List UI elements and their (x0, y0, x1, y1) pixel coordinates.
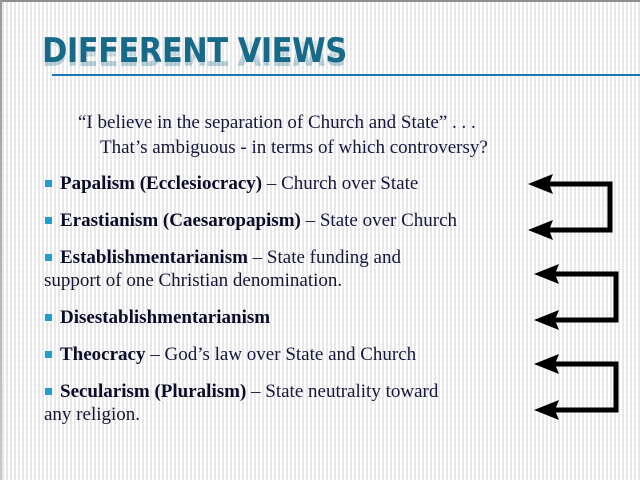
list-item-term: Establishmentarianism (60, 247, 248, 268)
list-item-term: Disestablishmentarianism (60, 307, 270, 328)
list-item-continuation: support of one Christian denomination. (44, 269, 514, 292)
list-item-term: Papalism (Ecclesiocracy) (60, 173, 262, 194)
bullet-list: Papalism (Ecclesiocracy) – Church over S… (44, 172, 514, 426)
square-bullet-icon (45, 388, 52, 395)
bracket-arrow-icon (522, 172, 626, 244)
list-item: Erastianism (Caesaropapism) – State over… (44, 209, 514, 232)
list-item-term: Erastianism (Caesaropapism) (60, 210, 301, 231)
square-bullet-icon (45, 351, 52, 358)
list-item: Disestablishmentarianism (44, 306, 514, 329)
list-item-description: – State funding and (248, 247, 401, 268)
bracket-arrow-icon (528, 352, 632, 424)
page-title-reflection: Different Views (42, 33, 347, 71)
list-item-term: Theocracy (60, 344, 145, 365)
title-divider-rule (52, 74, 640, 76)
list-item: Theocracy – God’s law over State and Chu… (44, 343, 514, 366)
title-block: Different Views Different Views (42, 32, 602, 102)
slide-canvas: Different Views Different Views “I belie… (0, 0, 640, 480)
square-bullet-icon (45, 254, 52, 261)
list-item-description: – God’s law over State and Church (145, 344, 416, 365)
square-bullet-icon (45, 314, 52, 321)
list-item-term: Secularism (Pluralism) (60, 381, 246, 402)
quote-block: “I believe in the separation of Church a… (78, 110, 598, 160)
list-item: Establishmentarianism – State funding an… (44, 246, 514, 292)
list-item-description: – State over Church (301, 210, 457, 231)
list-item-description: – State neutrality toward (246, 381, 438, 402)
square-bullet-icon (45, 217, 52, 224)
quote-line-2: That’s ambiguous - in terms of which con… (78, 135, 598, 160)
quote-line-1: “I believe in the separation of Church a… (78, 110, 598, 135)
list-item-continuation: any religion. (44, 403, 514, 426)
list-item-description: – Church over State (262, 173, 418, 194)
bracket-arrow-icon (528, 262, 632, 334)
list-item: Secularism (Pluralism) – State neutralit… (44, 380, 514, 426)
square-bullet-icon (45, 180, 52, 187)
list-item: Papalism (Ecclesiocracy) – Church over S… (44, 172, 514, 195)
